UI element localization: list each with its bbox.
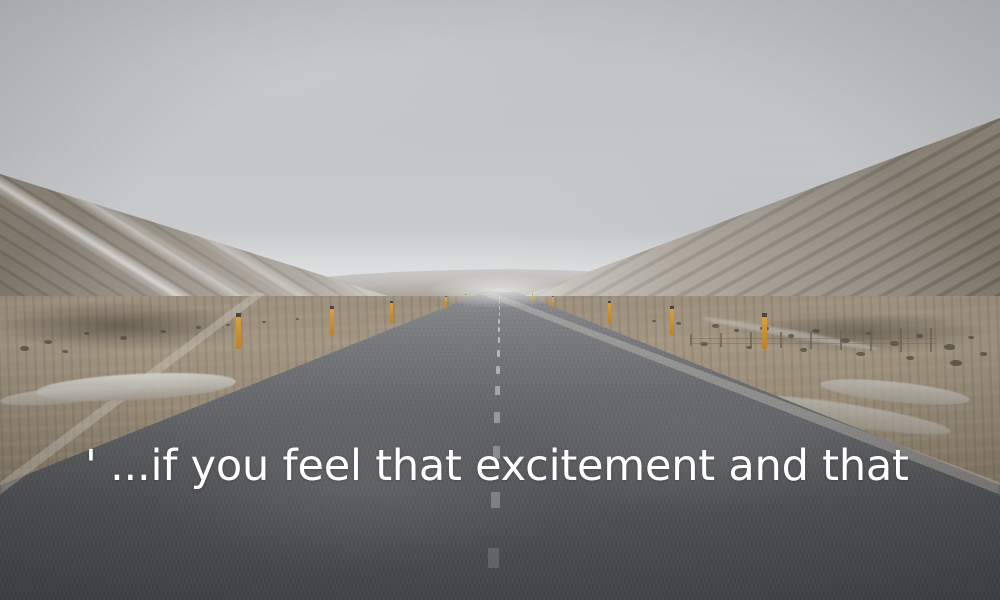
marker-post-cap xyxy=(390,301,393,303)
rock xyxy=(62,350,68,353)
rock xyxy=(44,340,52,344)
rock xyxy=(20,346,29,351)
marker-post-cap xyxy=(670,306,674,309)
marker-post-cap xyxy=(330,306,334,309)
rock xyxy=(968,336,974,339)
quote-line-1: ' ...if you feel that excitement and tha… xyxy=(85,436,965,496)
marker-post-cap xyxy=(608,301,611,303)
quote-text: ' ...if you feel that excitement and tha… xyxy=(85,316,965,600)
vanishing-point-haze xyxy=(400,268,600,314)
rock xyxy=(980,352,987,356)
quote-image: ' ...if you feel that excitement and tha… xyxy=(0,0,1000,600)
